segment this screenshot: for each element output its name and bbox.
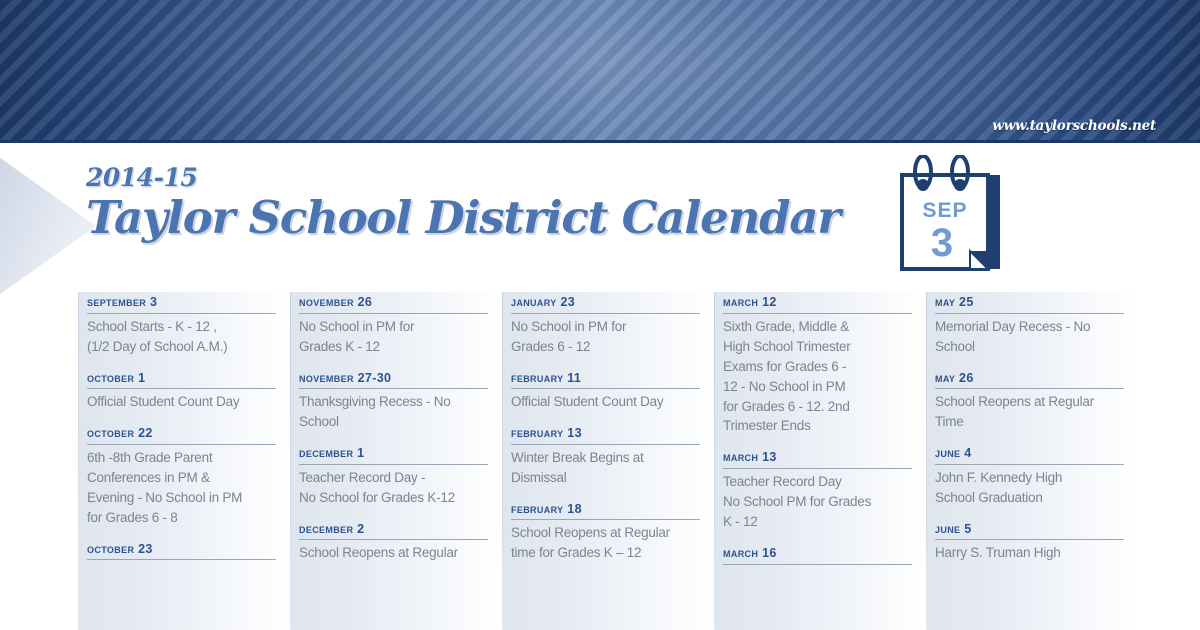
entry-date: February 18 (511, 502, 700, 521)
entry-description: Memorial Day Recess - No School (935, 317, 1124, 357)
calendar-icon-day: 3 (931, 221, 953, 265)
calendar-entry[interactable]: December 2 School Reopens at Regular (299, 522, 488, 564)
calendar-entry[interactable]: November 27-30 Thanksgiving Recess - No … (299, 371, 488, 433)
calendar-column-2: November 26 No School in PM for Grades K… (290, 292, 502, 630)
entry-description: School Reopens at Regular Time (935, 392, 1124, 432)
calendar-entry[interactable]: November 26 No School in PM for Grades K… (299, 295, 488, 357)
calendar-entry[interactable]: March 12 Sixth Grade, Middle & High Scho… (723, 295, 912, 436)
entry-description: Teacher Record Day No School PM for Grad… (723, 472, 912, 532)
entry-description: Official Student Count Day (511, 392, 700, 412)
entry-description: School Reopens at Regular (299, 543, 488, 563)
entry-date: December 1 (299, 446, 488, 465)
entry-date: March 13 (723, 450, 912, 469)
calendar-entry[interactable]: May 26 School Reopens at Regular Time (935, 371, 1124, 433)
calendar-entry[interactable]: March 13 Teacher Record Day No School PM… (723, 450, 912, 532)
entry-date: March 16 (723, 546, 912, 565)
calendar-icon-month: SEP (922, 199, 967, 222)
entry-date: June 5 (935, 522, 1124, 541)
entry-description: No School in PM for Grades K - 12 (299, 317, 488, 357)
page-title: Taylor School District Calendar (86, 195, 840, 242)
entry-description: Winter Break Begins at Dismissal (511, 448, 700, 488)
calendar-entry[interactable]: February 18 School Reopens at Regular ti… (511, 502, 700, 564)
entry-date: February 11 (511, 371, 700, 390)
calendar-column-3: January 23 No School in PM for Grades 6 … (502, 292, 714, 630)
calendar-entry[interactable]: February 13 Winter Break Begins at Dismi… (511, 426, 700, 488)
entry-date: May 25 (935, 295, 1124, 314)
header-banner: www.taylorschools.net (0, 0, 1200, 143)
calendar-entry[interactable]: March 16 (723, 546, 912, 565)
calendar-entry[interactable]: December 1 Teacher Record Day - No Schoo… (299, 446, 488, 508)
entry-date: October 23 (87, 542, 276, 561)
calendar-entry[interactable]: June 5 Harry S. Truman High (935, 522, 1124, 564)
entry-description: No School in PM for Grades 6 - 12 (511, 317, 700, 357)
website-url[interactable]: www.taylorschools.net (992, 118, 1156, 134)
entry-date: June 4 (935, 446, 1124, 465)
entry-description: 6th -8th Grade Parent Conferences in PM … (87, 448, 276, 528)
calendar-icon: SEP 3 (886, 155, 1016, 283)
calendar-entry[interactable]: October 1 Official Student Count Day (87, 371, 276, 413)
calendar-entry[interactable]: January 23 No School in PM for Grades 6 … (511, 295, 700, 357)
calendar-entry[interactable]: June 4 John F. Kennedy High School Gradu… (935, 446, 1124, 508)
entry-date: October 22 (87, 426, 276, 445)
entry-date: September 3 (87, 295, 276, 314)
entry-description: Teacher Record Day - No School for Grade… (299, 468, 488, 508)
entry-date: November 27-30 (299, 371, 488, 390)
arrow-decoration (0, 152, 96, 300)
entry-description: Thanksgiving Recess - No School (299, 392, 488, 432)
calendar-entry[interactable]: September 3 School Starts - K - 12 , (1/… (87, 295, 276, 357)
calendar-flyer: www.taylorschools.net 2014-15 Taylor Sch… (0, 0, 1200, 630)
entry-date: January 23 (511, 295, 700, 314)
calendar-entry[interactable]: February 11 Official Student Count Day (511, 371, 700, 413)
entry-date: December 2 (299, 522, 488, 541)
entry-date: May 26 (935, 371, 1124, 390)
entry-description: Sixth Grade, Middle & High School Trimes… (723, 317, 912, 437)
entry-date: March 12 (723, 295, 912, 314)
calendar-column-1: September 3 School Starts - K - 12 , (1/… (78, 292, 290, 630)
entry-date: November 26 (299, 295, 488, 314)
entry-description: Harry S. Truman High (935, 543, 1124, 563)
title-block: 2014-15 Taylor School District Calendar (86, 165, 840, 242)
calendar-entry[interactable]: October 23 (87, 542, 276, 561)
entry-date: October 1 (87, 371, 276, 390)
calendar-column-4: March 12 Sixth Grade, Middle & High Scho… (714, 292, 926, 630)
calendar-entry[interactable]: May 25 Memorial Day Recess - No School (935, 295, 1124, 357)
school-year-label: 2014-15 (86, 165, 840, 190)
entry-description: School Starts - K - 12 , (1/2 Day of Sch… (87, 317, 276, 357)
calendar-entry[interactable]: October 22 6th -8th Grade Parent Confere… (87, 426, 276, 528)
entry-description: Official Student Count Day (87, 392, 276, 412)
calendar-columns: September 3 School Starts - K - 12 , (1/… (78, 292, 1142, 630)
entry-date: February 13 (511, 426, 700, 445)
entry-description: School Reopens at Regular time for Grade… (511, 523, 700, 563)
entry-description: John F. Kennedy High School Graduation (935, 468, 1124, 508)
calendar-column-5: May 25 Memorial Day Recess - No School M… (926, 292, 1138, 630)
